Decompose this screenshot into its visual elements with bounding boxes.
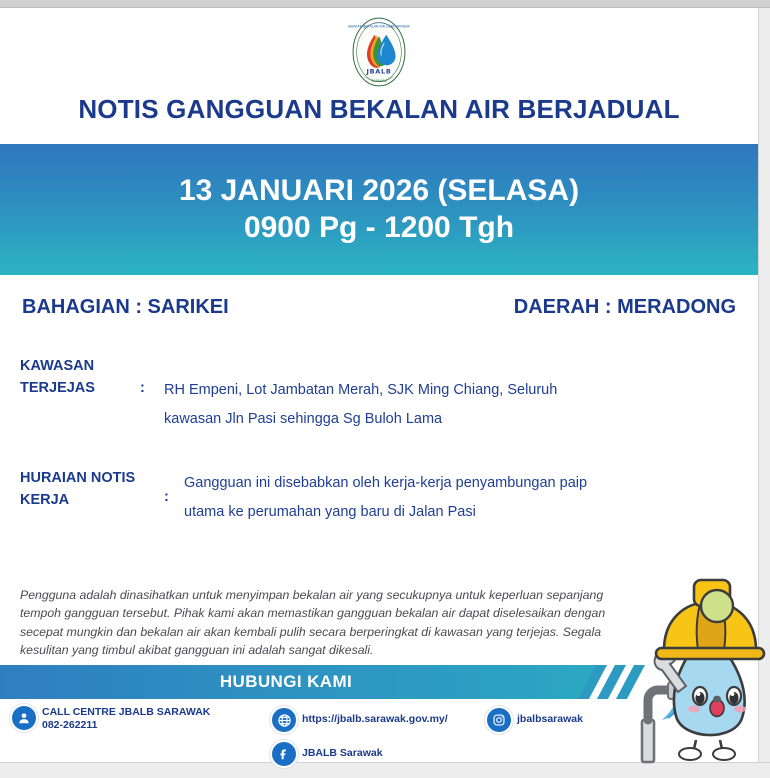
field-kawasan-label: KAWASAN TERJEJAS [20,356,140,400]
field-huraian-notis-kerja: HURAIAN NOTIS KERJA : Gangguan ini diseb… [20,468,720,527]
contact-instagram-text: jbalbsarawak [517,713,583,726]
contact-bar-title: HUBUNGI KAMI [0,665,572,699]
field-kawasan-terjejas: KAWASAN TERJEJAS : RH Empeni, Lot Jambat… [20,356,720,434]
daerah-label: DAERAH : MERADONG [514,296,736,319]
field-huraian-line-2: utama ke perumahan yang baru di Jalan Pa… [184,498,587,527]
contact-website-text: https://jbalb.sarawak.gov.my/ [302,713,448,726]
logo-container: JABATAN BEKALAN AIR LUAR BANDAR JBALB SA… [0,16,758,88]
region-row: BAHAGIAN : SARIKEI DAERAH : MERADONG [0,296,758,319]
water-droplet-mascot-icon [618,568,770,772]
field-kawasan-colon: : [140,356,164,400]
notice-sheet: JABATAN BEKALAN AIR LUAR BANDAR JBALB SA… [0,8,758,762]
contact-facebook[interactable]: JBALB Sarawak [272,742,383,766]
field-kawasan-value: RH Empeni, Lot Jambatan Merah, SJK Ming … [164,356,557,434]
banner-date: 13 JANUARI 2026 (SELASA) [179,173,579,210]
jbalb-logo-icon: JABATAN BEKALAN AIR LUAR BANDAR JBALB SA… [343,16,415,88]
contact-call-centre[interactable]: CALL CENTRE JBALB SARAWAK 082-262211 [12,706,210,732]
field-huraian-value: Gangguan ini disebabkan oleh kerja-kerja… [184,468,587,527]
field-kawasan-line-1: RH Empeni, Lot Jambatan Merah, SJK Ming … [164,376,557,405]
schedule-banner: 13 JANUARI 2026 (SELASA) 0900 Pg - 1200 … [0,144,758,275]
window-top-strip [0,0,770,8]
field-kawasan-line-2: kawasan Jln Pasi sehingga Sg Buloh Lama [164,405,557,434]
field-huraian-line-1: Gangguan ini disebabkan oleh kerja-kerja… [184,469,587,498]
globe-icon [272,708,296,732]
disclaimer-text: Pengguna adalah dinasihatkan untuk menyi… [20,586,606,660]
contact-call-centre-text: CALL CENTRE JBALB SARAWAK 082-262211 [42,706,210,732]
field-huraian-label: HURAIAN NOTIS KERJA [20,468,164,512]
svg-text:SARAWAK: SARAWAK [371,79,387,83]
contact-website[interactable]: https://jbalb.sarawak.gov.my/ [272,708,448,732]
field-huraian-colon: : [164,468,184,509]
page-title: NOTIS GANGGUAN BEKALAN AIR BERJADUAL [0,94,758,125]
contact-facebook-text: JBALB Sarawak [302,747,383,760]
notice-page: JABATAN BEKALAN AIR LUAR BANDAR JBALB SA… [0,0,770,778]
contact-call-centre-line2: 082-262211 [42,719,210,732]
bahagian-label: BAHAGIAN : SARIKEI [22,296,229,319]
svg-text:JABATAN BEKALAN AIR LUAR BANDA: JABATAN BEKALAN AIR LUAR BANDAR [347,25,410,29]
facebook-icon [272,742,296,766]
contact-call-centre-line1: CALL CENTRE JBALB SARAWAK [42,706,210,718]
person-icon [12,706,36,730]
contact-instagram[interactable]: jbalbsarawak [487,708,583,732]
instagram-icon [487,708,511,732]
banner-time: 0900 Pg - 1200 Tgh [244,210,514,247]
svg-text:JBALB: JBALB [366,68,392,76]
